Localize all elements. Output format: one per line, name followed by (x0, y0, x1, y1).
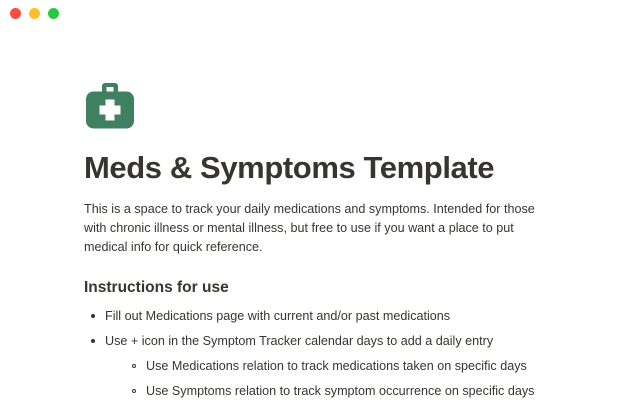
close-button[interactable] (10, 8, 21, 19)
sub-list-item-label: Use Medications relation to track medica… (146, 359, 527, 373)
sub-list-item-label: Use Symptoms relation to track symptom o… (146, 384, 534, 398)
instructions-sublist: Use Medications relation to track medica… (105, 357, 584, 400)
page-title: Meds & Symptoms Template (84, 150, 584, 186)
section-heading-instructions: Instructions for use (84, 277, 584, 298)
app-window: Meds & Symptoms Template This is a space… (0, 0, 640, 400)
document-page: Meds & Symptoms Template This is a space… (0, 28, 640, 400)
list-item-label: Fill out Medications page with current a… (105, 309, 450, 323)
sub-list-item: Use Symptoms relation to track symptom o… (125, 382, 584, 400)
window-controls (10, 8, 59, 19)
maximize-button[interactable] (48, 8, 59, 19)
sub-list-item: Use Medications relation to track medica… (125, 357, 584, 375)
instructions-list: Fill out Medications page with current a… (84, 307, 584, 400)
title-bar (0, 0, 640, 28)
list-item: Fill out Medications page with current a… (84, 307, 584, 325)
list-item: Use + icon in the Symptom Tracker calend… (84, 332, 584, 400)
list-item-label: Use + icon in the Symptom Tracker calend… (105, 334, 493, 348)
document-content: Meds & Symptoms Template This is a space… (84, 80, 584, 400)
minimize-button[interactable] (29, 8, 40, 19)
first-aid-kit-icon[interactable] (84, 80, 136, 132)
page-intro-paragraph: This is a space to track your daily medi… (84, 200, 558, 257)
